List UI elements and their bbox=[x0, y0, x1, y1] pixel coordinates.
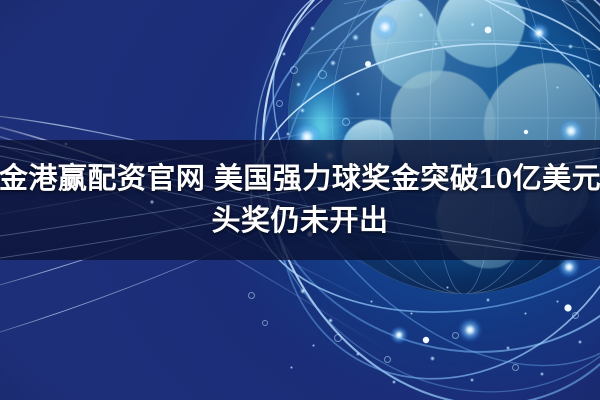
headline: 金港赢配资官网 美国强力球奖金突破10亿美元 头奖仍未开出 bbox=[0, 140, 600, 260]
banner-image: 金港赢配资官网 美国强力球奖金突破10亿美元 头奖仍未开出 bbox=[0, 0, 600, 400]
headline-line-2: 头奖仍未开出 bbox=[211, 202, 388, 240]
headline-line-1: 金港赢配资官网 美国强力球奖金突破10亿美元 bbox=[0, 160, 600, 198]
